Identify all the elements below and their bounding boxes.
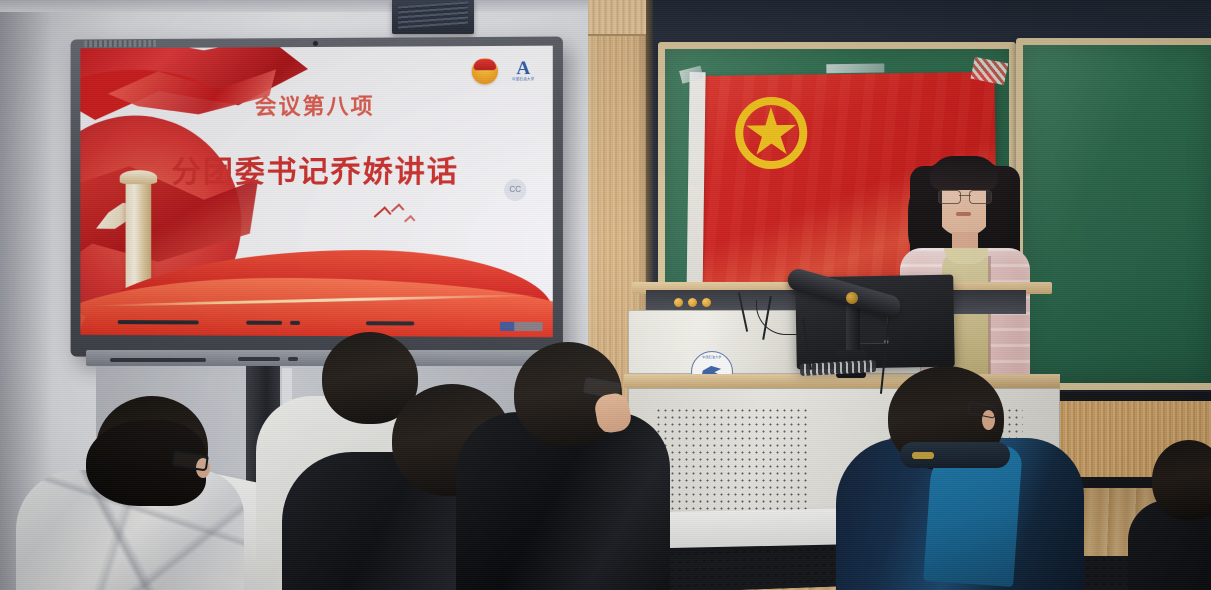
flying-doves-icon <box>375 206 431 232</box>
display-port-slot <box>246 321 282 325</box>
vent-slats <box>398 2 468 30</box>
slide-title: 分团委书记乔娇讲话 <box>80 147 552 192</box>
university-logo-subtitle: 中国石油大学 <box>508 77 538 82</box>
display-port-slot <box>118 320 199 324</box>
lectern-knob[interactable] <box>674 298 683 307</box>
display-brand-label <box>84 40 157 47</box>
hoodie-drawcord <box>912 452 934 459</box>
university-logo-mark: A <box>508 60 538 77</box>
cart-vent-slot <box>110 358 206 362</box>
speaker-glasses-icon <box>938 190 992 202</box>
slide-text-block: 会议第八项 分团委书记乔娇讲话 <box>80 88 552 191</box>
presentation-slide: A 中国石油大学 CC 会议第八项 分团委书记乔娇讲话 <box>80 46 552 338</box>
dove-icon <box>391 203 405 216</box>
dove-icon <box>404 215 415 226</box>
display-port-slot <box>290 321 300 325</box>
student-head <box>1152 440 1211 520</box>
slide-kicker: 会议第八项 <box>80 88 552 122</box>
cart-vent-slot <box>288 357 298 361</box>
flag-tape <box>826 63 884 73</box>
classroom-photo: A 中国石油大学 CC 会议第八项 分团委书记乔娇讲话 <box>0 0 1211 590</box>
university-logo-icon: A 中国石油大学 <box>508 60 538 82</box>
dove-icon <box>374 206 392 224</box>
air-vent-icon <box>392 0 474 34</box>
youth-league-star-icon <box>735 97 808 170</box>
lectern-knob[interactable] <box>688 298 697 307</box>
ceiling-line <box>0 0 600 12</box>
speaker-hair-fringe <box>930 156 998 190</box>
glasses-lens-left <box>938 190 961 204</box>
display-panel[interactable]: A 中国石油大学 CC 会议第八项 分团委书记乔娇讲话 <box>80 46 552 338</box>
flag-hoist-band <box>686 72 705 304</box>
glasses-lens-right <box>969 190 992 204</box>
display-port-slot <box>366 321 414 325</box>
smart-display[interactable]: A 中国石油大学 CC 会议第八项 分团委书记乔娇讲话 <box>71 37 563 360</box>
speaker-mouth <box>956 212 971 216</box>
display-bottom-bezel <box>80 315 552 335</box>
wood-pillar-cap <box>588 0 650 36</box>
lectern-desk-surface <box>624 374 934 388</box>
display-camera-icon <box>313 41 318 46</box>
lectern-knob[interactable] <box>702 298 711 307</box>
monitor-arm-joint <box>846 292 858 304</box>
cart-vent-slot <box>238 357 280 361</box>
slide-logo-row: A 中国石油大学 <box>472 58 539 85</box>
display-brand-mark <box>500 322 543 331</box>
emblem-top-text: 中国石油大学 <box>692 355 732 359</box>
glasses-bridge <box>959 195 971 196</box>
communist-youth-league-logo-icon <box>472 58 498 84</box>
